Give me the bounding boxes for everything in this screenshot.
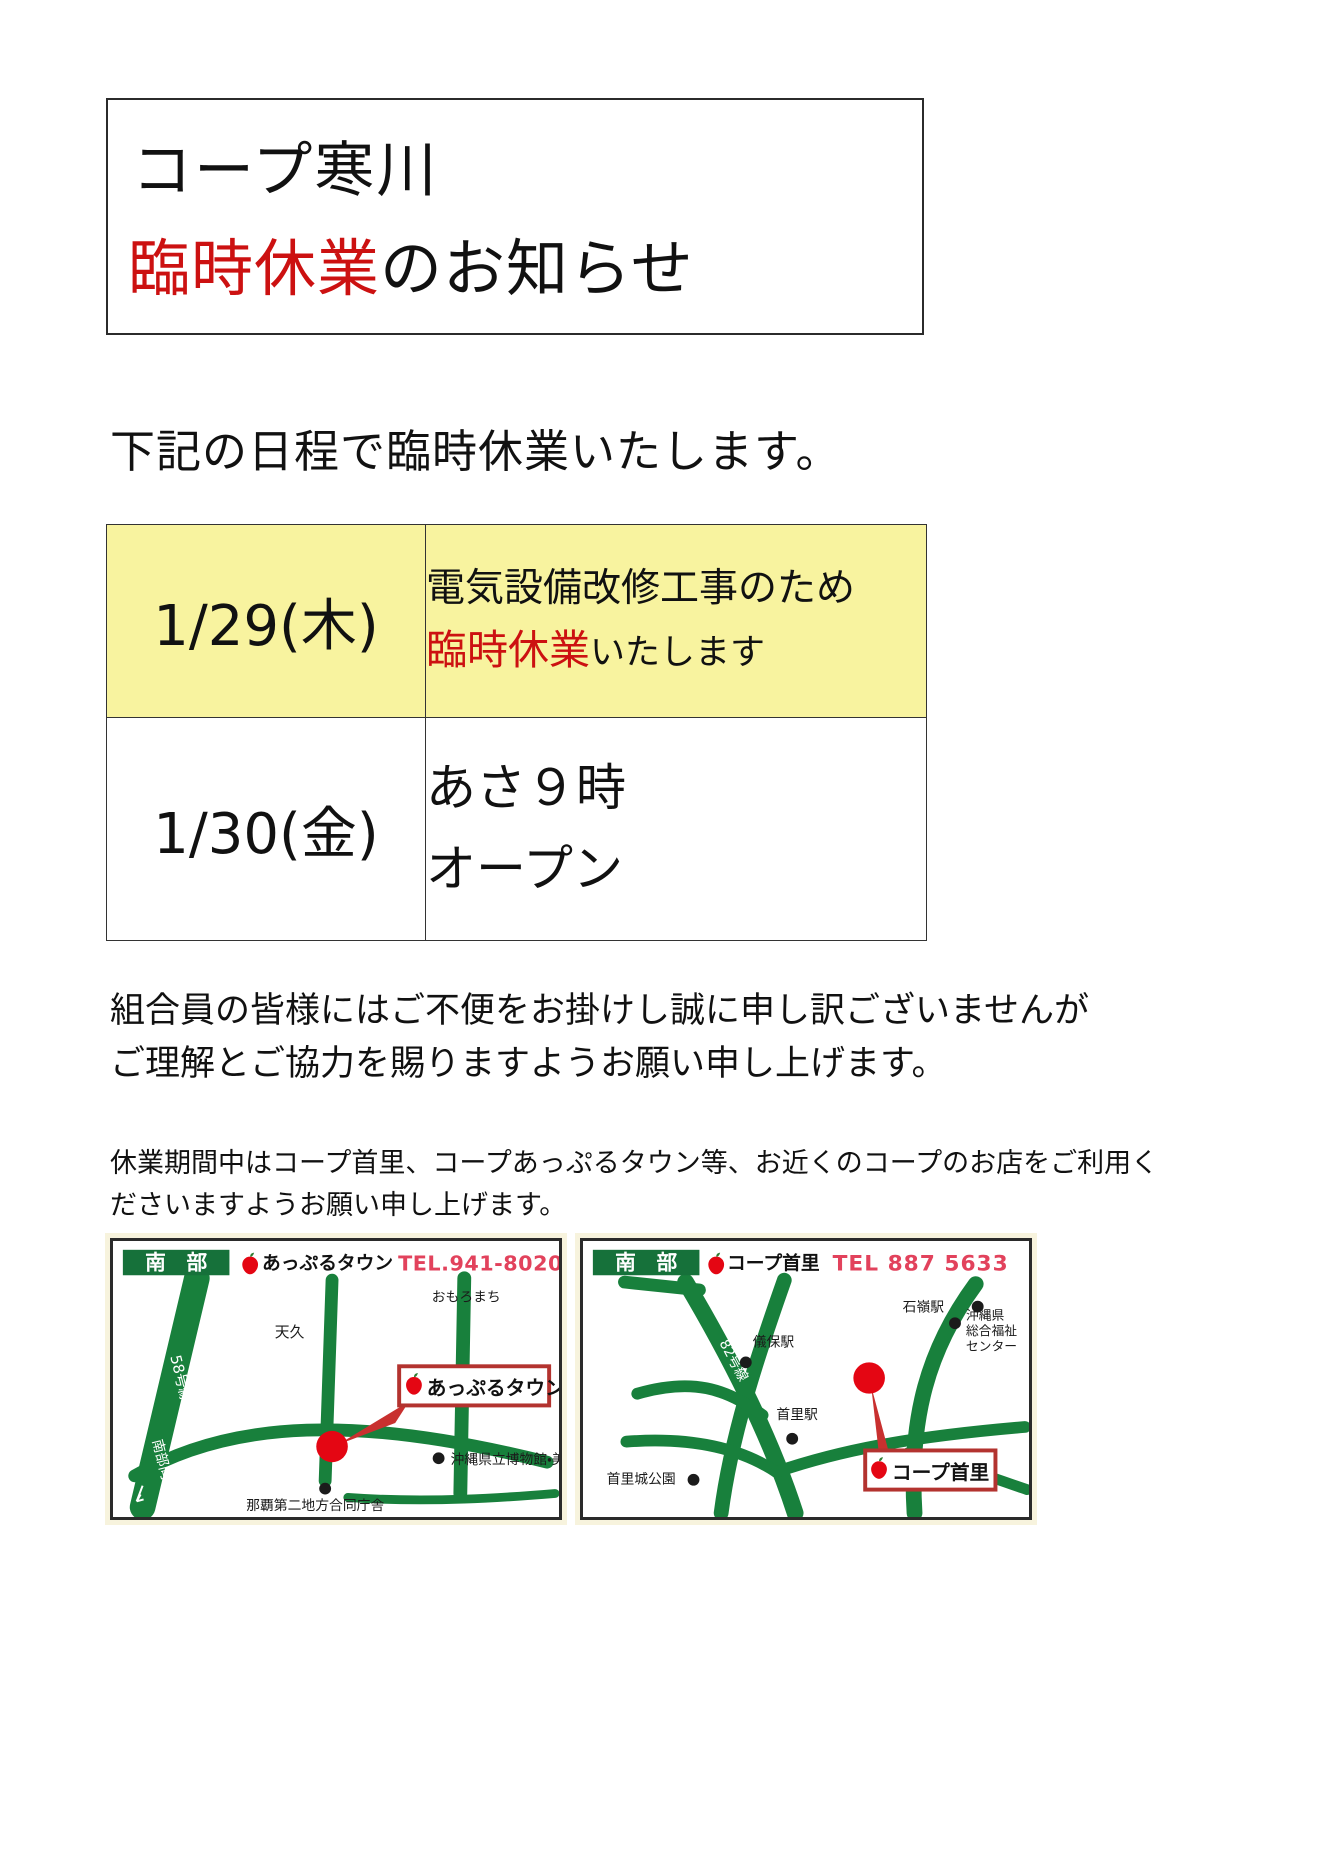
callout-label-shuri: コープ首里 [892, 1461, 989, 1484]
schedule-date-open: 1/30(金) [107, 718, 426, 941]
headline-red-part: 臨時休業 [128, 232, 380, 305]
closure-red-part: 臨時休業 [426, 626, 590, 674]
apology-line-2: ご理解とご協力を賜りますようお願い申し上げます。 [110, 1038, 950, 1091]
apology-line-1: 組合員の皆様にはご不便をお掛けし誠に申し訳ございませんが [110, 985, 950, 1038]
map-label-museum: 沖縄県立博物館・美術館 [450, 1452, 559, 1468]
store-marker-apple [316, 1431, 348, 1462]
map-tel-shuri: TEL 887 5633 [833, 1251, 1009, 1276]
poi-dot-welfare-center [949, 1317, 961, 1329]
map-label-ishimine: 石嶺駅 [903, 1300, 945, 1316]
closure-statement: 臨時休業いたします [426, 624, 926, 677]
callout-coop-shuri: コープ首里 [865, 1450, 995, 1489]
map-apple-town-graphic: 南 部 あっぷるタウン TEL.941-8020 58号線 南部向け 天久 おも… [113, 1241, 559, 1517]
alt-note-line-1: 休業期間中はコープ首里、コープあっぷるタウン等、お近くのコープのお店をご利用く [110, 1143, 960, 1185]
map-label-gibo: 儀保駅 [753, 1335, 795, 1351]
closure-rest-part: いたします [590, 633, 765, 673]
schedule-date-closed: 1/29(木) [107, 525, 426, 718]
map-store-name-shuri: コープ首里 [727, 1252, 820, 1274]
map-store-name-apple: あっぷるタウン [262, 1253, 393, 1274]
callout-label-apple: あっぷるタウン [427, 1377, 559, 1400]
callout-apple-town: あっぷるタウン [399, 1366, 559, 1405]
poi-dot-shurijo-park [688, 1474, 700, 1486]
store-name: コープ寒川 [132, 122, 438, 209]
open-time: あさ９時 [426, 755, 926, 823]
apology-paragraph: 組合員の皆様にはご不便をお掛けし誠に申し訳ございませんが ご理解とご協力を賜りま… [110, 985, 950, 1090]
table-row: 1/29(木) 電気設備改修工事のため 臨時休業いたします [107, 525, 927, 718]
schedule-table: 1/29(木) 電気設備改修工事のため 臨時休業いたします 1/30(金) あさ… [106, 524, 927, 941]
poi-dot-govbuilding [319, 1483, 331, 1495]
map-label-welfare-2: 総合福祉 [966, 1324, 1018, 1339]
closure-reason: 電気設備改修工事のため [426, 564, 926, 614]
map-label-gov-building: 那覇第二地方合同庁舎 [246, 1497, 384, 1514]
lead-sentence: 下記の日程で臨時休業いたします。 [110, 415, 842, 480]
map-label-welfare-3: センター [966, 1340, 1017, 1355]
map-label-shuri-station: 首里駅 [776, 1407, 818, 1423]
map-label-shurijo-park: 首里城公園 [607, 1472, 676, 1488]
schedule-note-open: あさ９時 オープン [426, 718, 927, 941]
schedule-note-closed: 電気設備改修工事のため 臨時休業いたします [426, 525, 927, 718]
poi-dot-museum [433, 1452, 445, 1464]
region-badge-label: 南 部 [145, 1250, 208, 1274]
map-label-amiku: 天久 [275, 1324, 305, 1341]
notice-title-box: コープ寒川 臨時休業のお知らせ [106, 98, 924, 335]
map-label-omoromachi: おもろまち [432, 1290, 501, 1306]
map-coop-shuri-graphic: 南 部 コープ首里 TEL 887 5633 82号線 石嶺駅 儀保駅 首里駅 … [583, 1241, 1029, 1517]
poi-dot-shuri-station [786, 1433, 798, 1445]
notice-headline: 臨時休業のお知らせ [128, 218, 694, 308]
map-label-welfare-1: 沖縄県 [966, 1308, 1005, 1323]
headline-rest-part: のお知らせ [380, 232, 694, 305]
poi-dot-gibo [740, 1356, 752, 1368]
alt-note-line-2: ださいますようお願い申し上げます。 [110, 1185, 960, 1227]
table-row: 1/30(金) あさ９時 オープン [107, 718, 927, 941]
map-coop-shuri: 南 部 コープ首里 TEL 887 5633 82号線 石嶺駅 儀保駅 首里駅 … [580, 1238, 1032, 1520]
open-word: オープン [426, 836, 926, 904]
map-tel-apple: TEL.941-8020 [398, 1251, 559, 1275]
region-badge-label-shuri: 南 部 [615, 1250, 678, 1274]
map-apple-town: 南 部 あっぷるタウン TEL.941-8020 58号線 南部向け 天久 おも… [110, 1238, 562, 1520]
store-marker-shuri [853, 1362, 885, 1393]
alternative-stores-note: 休業期間中はコープ首里、コープあっぷるタウン等、お近くのコープのお店をご利用く … [110, 1143, 960, 1227]
